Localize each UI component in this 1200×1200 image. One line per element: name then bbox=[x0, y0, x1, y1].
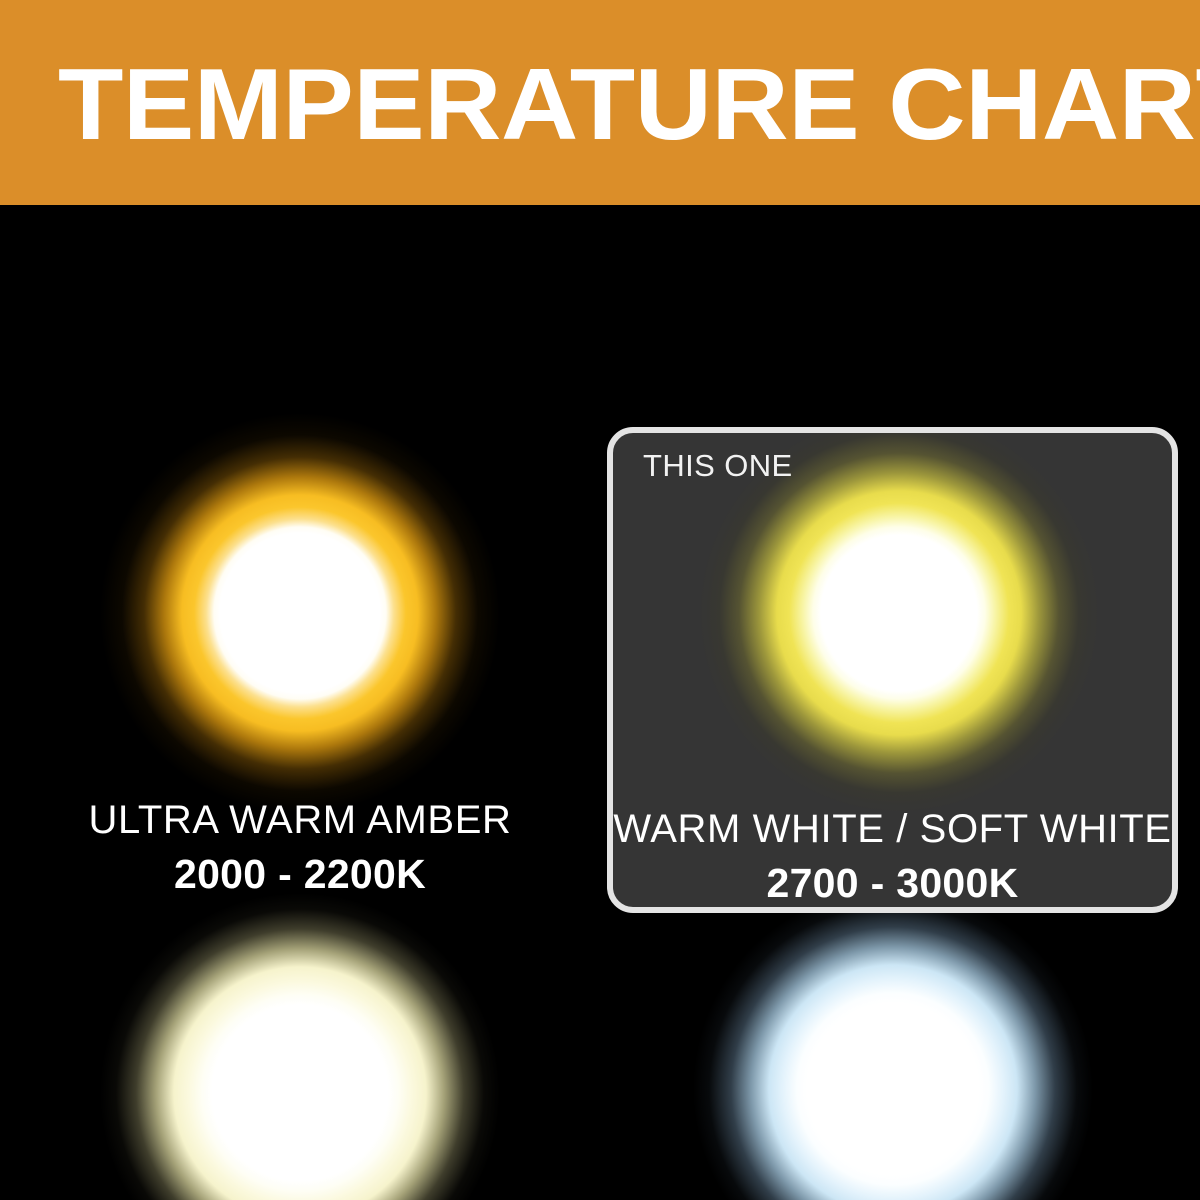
swatch-natural-neutral-white[interactable] bbox=[0, 705, 600, 1200]
swatch-warm-white-soft-white-card[interactable]: THIS ONE WARM WHITE / SOFT WHITE 2700 - … bbox=[607, 427, 1178, 913]
glow-natural-neutral-white-icon bbox=[100, 893, 500, 1200]
swatch-kelvin-warm-white-soft-white: 2700 - 3000K bbox=[613, 859, 1172, 907]
glow-daylight-cool-white-icon bbox=[693, 889, 1093, 1200]
header-bar: TEMPERATURE CHART bbox=[0, 0, 1200, 205]
temperature-chart-page: TEMPERATURE CHART ULTRA WARM AMBER 2000 … bbox=[0, 0, 1200, 1200]
page-title: TEMPERATURE CHART bbox=[58, 50, 1200, 160]
swatch-ultra-warm-amber[interactable] bbox=[0, 205, 600, 702]
glow-warm-white-soft-white-icon bbox=[699, 427, 1099, 813]
this-one-badge: THIS ONE bbox=[643, 448, 793, 484]
swatch-name-warm-white-soft-white: WARM WHITE / SOFT WHITE bbox=[613, 806, 1172, 852]
swatch-stage: ULTRA WARM AMBER 2000 - 2200K NATURAL / … bbox=[0, 205, 1200, 1200]
caption-warm-white-soft-white: WARM WHITE / SOFT WHITE 2700 - 3000K bbox=[613, 806, 1172, 907]
